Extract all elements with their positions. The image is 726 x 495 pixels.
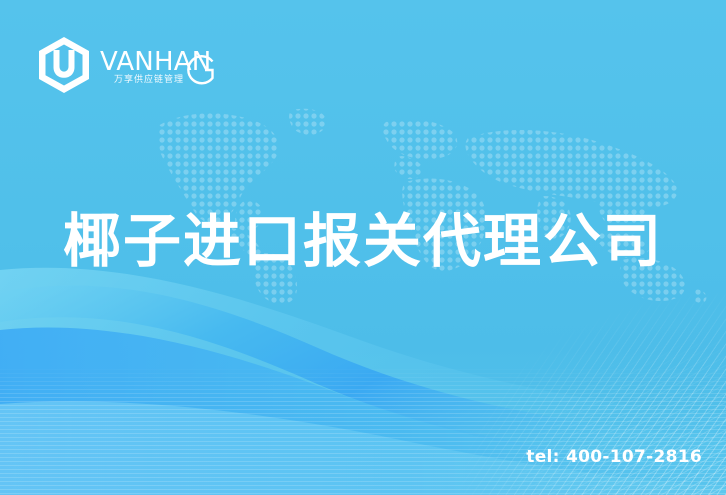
promo-banner: VANHAN 万享供应链管理 椰子进口报关代理公司 tel: 400-107-2…	[0, 0, 726, 495]
brand-logo[interactable]: VANHAN 万享供应链管理	[36, 36, 220, 94]
svg-text:VANHAN: VANHAN	[100, 47, 211, 77]
logo-wordmark-group: VANHAN 万享供应链管理	[100, 36, 220, 94]
contact-phone[interactable]: tel: 400-107-2816	[526, 447, 702, 467]
page-title: 椰子进口报关代理公司	[0, 206, 726, 276]
logo-subtitle-text: 万享供应链管理	[114, 73, 184, 85]
vanhang-hexagon-u-icon	[36, 36, 92, 94]
